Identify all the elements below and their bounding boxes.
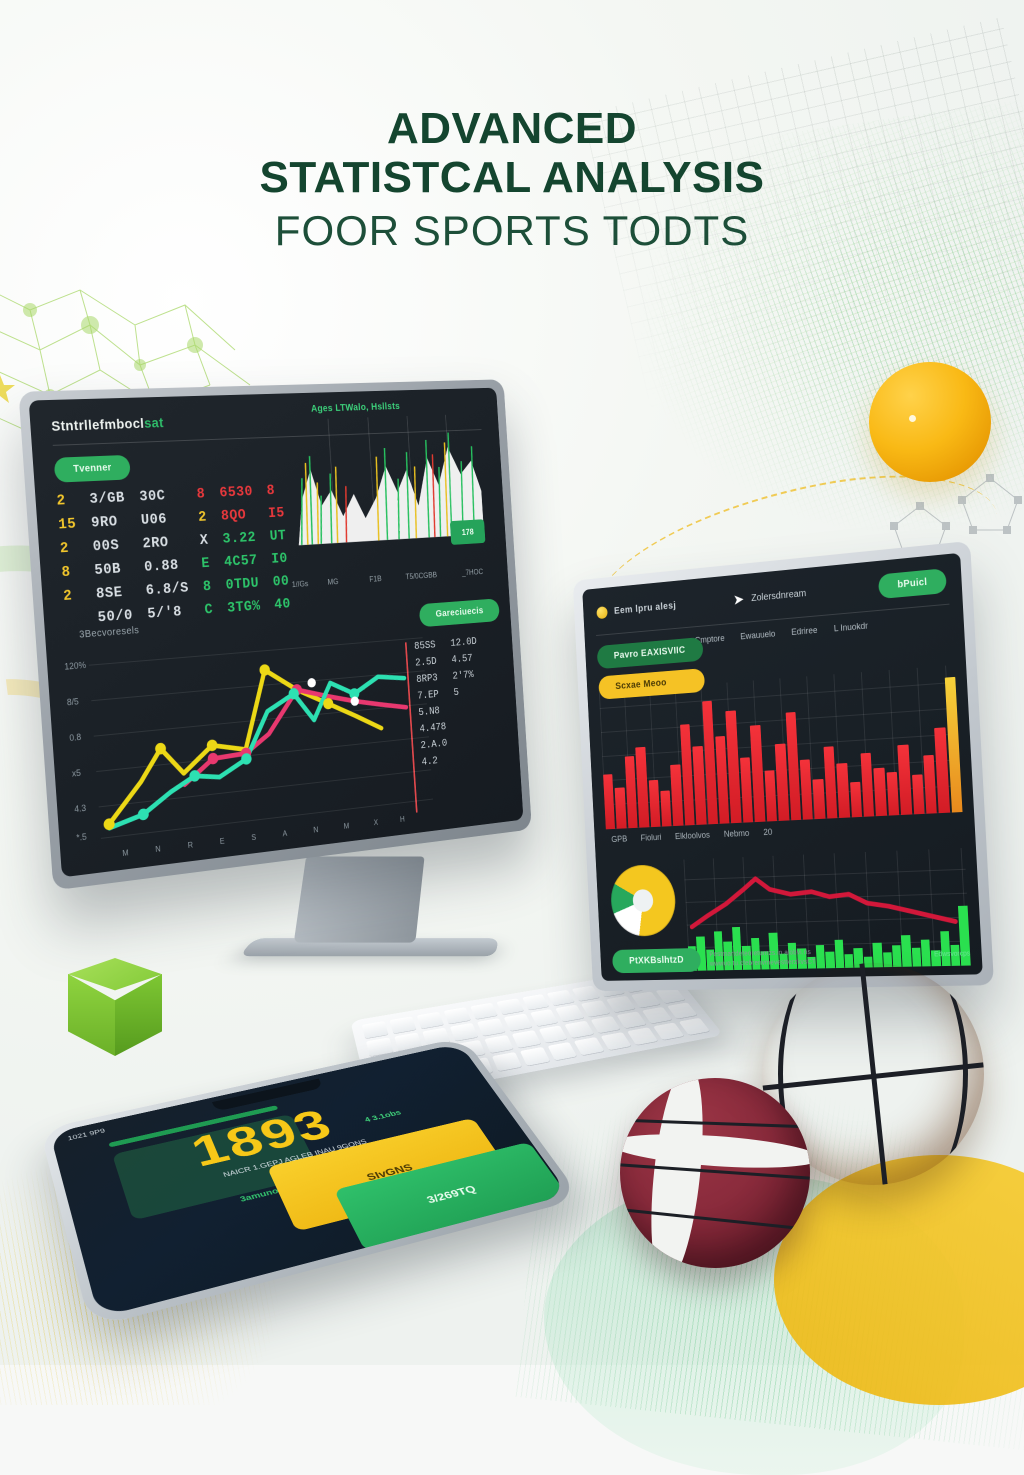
area-chart[interactable]: Ages LTWalo, Hsllsts <box>277 401 499 588</box>
yellow-sphere-right <box>869 362 991 482</box>
key[interactable] <box>362 1021 389 1039</box>
dashboard-title-accent: sat <box>144 414 165 430</box>
tablet-footer-badge: Edwsvorcps <box>934 951 970 959</box>
side-panel-button-wrap: Gareciuecis <box>419 598 500 627</box>
desktop-monitor: Stntrllefmboclsat Tvenner 2 15 2 8 2 3/G… <box>18 379 531 890</box>
key[interactable] <box>606 996 635 1012</box>
table-cell: 5/'8 <box>147 603 191 623</box>
side-column-b: 12.0D 4.57 2'7% 5 <box>450 636 487 807</box>
line-chart-plot <box>88 621 435 844</box>
bar <box>912 774 925 814</box>
side-value: 5 <box>453 685 480 698</box>
bar <box>635 747 649 828</box>
table-cell: 2 <box>56 492 75 510</box>
line-x-tick: X <box>373 818 378 827</box>
polygon-node-diagram-large <box>955 472 1024 538</box>
key[interactable] <box>519 1047 549 1066</box>
key[interactable] <box>547 1042 577 1061</box>
line-x-tick: R <box>188 841 194 850</box>
key[interactable] <box>642 1007 672 1024</box>
table-cell: 40 <box>274 596 291 613</box>
key[interactable] <box>538 1025 568 1043</box>
table-cell: 0.88 <box>144 557 188 576</box>
bar <box>764 770 777 822</box>
headline-line-2: STATISTCAL ANALYSIS <box>0 153 1024 202</box>
bar <box>660 790 672 827</box>
area-x-tick: 1//Gs <box>292 579 309 589</box>
tab-nav-item[interactable]: L Inuokdr <box>834 621 869 634</box>
key[interactable] <box>581 1000 610 1017</box>
table-cell: 50/0 <box>97 607 133 626</box>
headline-line-3: FOOR SPORTS TODTS <box>0 203 1024 260</box>
line-x-tick: S <box>251 833 256 842</box>
key[interactable] <box>556 1005 585 1022</box>
key[interactable] <box>653 1022 684 1040</box>
line-x-tick: A <box>282 829 287 838</box>
key[interactable] <box>667 1002 697 1019</box>
table-cell: 0TDU <box>225 575 259 594</box>
stats-column-symbols: 8 2 X E 8 C <box>196 486 213 619</box>
area-x-tick: MG <box>327 577 338 586</box>
line-x-tick: N <box>313 825 318 834</box>
area-x-tick: F1B <box>369 574 382 583</box>
line-y-tick: 0.8 <box>69 732 81 743</box>
table-cell: X <box>199 532 209 549</box>
tablet-footer-text: Pestmartdeteoretunrzs.in alobvi.ris wwwu… <box>709 949 816 968</box>
monitor-stand <box>294 857 425 943</box>
tab-nav-item[interactable]: Edriree <box>791 625 818 637</box>
footer-line: Pestmartdeteoretunrzs.in alobvi.ris <box>709 949 816 958</box>
table-cell: 30C <box>139 487 183 506</box>
table-cell: 00S <box>92 537 128 556</box>
key[interactable] <box>496 998 524 1014</box>
key[interactable] <box>679 1018 710 1035</box>
line-y-tick: 120% <box>64 660 86 672</box>
donut-chart[interactable] <box>609 864 677 937</box>
table-cell: U06 <box>140 510 184 529</box>
monitor-screen[interactable]: Stntrllefmboclsat Tvenner 2 15 2 8 2 3/G… <box>29 388 524 878</box>
line-y-tick: x5 <box>72 768 82 779</box>
table-cell: 50B <box>94 560 130 579</box>
table-cell: 9RO <box>91 513 127 532</box>
key[interactable] <box>484 1035 513 1053</box>
phone-status-label: 1021 9P9 <box>67 1127 106 1141</box>
side-value: 2'7% <box>452 669 479 682</box>
table-cell: E <box>201 555 211 572</box>
bar <box>823 746 837 818</box>
key[interactable] <box>389 1016 416 1033</box>
dashboard-primary-button[interactable]: Tvenner <box>54 455 131 483</box>
brand-dot-icon <box>596 606 607 619</box>
table-cell: 6.8/S <box>145 580 189 599</box>
area-x-tick: _7HOC <box>462 568 484 578</box>
bar <box>850 782 862 817</box>
bar-x-label: GPB <box>611 834 627 844</box>
line-x-tick: N <box>155 845 161 854</box>
line-y-tick: 4.3 <box>74 803 86 814</box>
line-x-tick: M <box>122 848 129 858</box>
up-arrow-icon: ➤ <box>733 592 745 607</box>
headline-line-1: ADVANCED <box>0 104 1024 153</box>
phone-delta-value: 4 3.1obs <box>363 1109 402 1124</box>
table-cell: 4C57 <box>224 552 258 570</box>
key[interactable] <box>522 994 550 1010</box>
footer-line: wwwuo.tu.cfebrenvmevestterzkvsCT <box>710 959 817 968</box>
stats-column-white-2: 30C U06 2RO 0.88 6.8/S 5/'8 <box>139 487 191 623</box>
area-chart-title: Ages LTWalo, Hsllsts <box>311 401 401 414</box>
bar <box>670 764 683 826</box>
key[interactable] <box>477 1018 505 1036</box>
tablet-device: Eem lpru alesj ➤ Zolersdnream bPuicl Cmp… <box>573 541 994 991</box>
bar <box>923 755 937 814</box>
tablet-cta-button[interactable]: bPuicl <box>878 568 947 599</box>
line-y-tick: 8/5 <box>67 696 79 707</box>
stats-column-white-1: 3/GB 9RO 00S 50B 8SE 50/0 <box>89 489 133 626</box>
table-cell: 3.22 <box>222 529 256 547</box>
line-chart[interactable]: 3Becvoresels 120% 8/5 0.8 x5 4.3 *.5 <box>59 620 439 862</box>
key[interactable] <box>511 1030 540 1048</box>
key[interactable] <box>503 1014 531 1031</box>
volleyball <box>620 1078 810 1268</box>
key[interactable] <box>492 1052 522 1071</box>
poster-canvas: ADVANCED STATISTCAL ANALYSIS FOOR SPORTS… <box>0 0 1024 1365</box>
bar <box>897 745 911 815</box>
bar <box>648 780 660 828</box>
table-cell: 2 <box>198 509 208 526</box>
green-cube-object <box>60 958 172 1070</box>
line-y-tick: *.5 <box>76 832 87 843</box>
bar <box>813 779 825 820</box>
headline-block: ADVANCED STATISTCAL ANALYSIS FOOR SPORTS… <box>0 104 1024 259</box>
bar-x-label: 20 <box>763 827 772 837</box>
bar-x-label: Fioluri <box>640 832 661 842</box>
stats-column-yellow: 2 15 2 8 2 <box>56 492 83 629</box>
bar <box>800 759 813 820</box>
stats-column-red-green: 6530 8QO 3.22 4C57 0TDU 3TG% <box>219 484 261 617</box>
key[interactable] <box>417 1012 444 1029</box>
bar <box>603 774 615 829</box>
table-cell: 15 <box>58 516 77 534</box>
key[interactable] <box>574 1037 605 1056</box>
side-value: 12.0D <box>450 636 477 649</box>
bar-x-label: Nebmo <box>724 828 750 839</box>
line-x-tick: M <box>343 822 349 831</box>
key[interactable] <box>601 1032 632 1050</box>
table-cell: 2 <box>63 587 82 605</box>
tablet-screen[interactable]: Eem lpru alesj ➤ Zolersdnream bPuicl Cmp… <box>582 553 983 981</box>
table-cell: 8SE <box>96 584 132 603</box>
line-chart-label: 3Becvoresels <box>79 625 140 640</box>
table-cell: 3/GB <box>89 489 125 507</box>
table-cell: 3TG% <box>227 598 261 617</box>
table-cell: 8 <box>61 563 80 581</box>
side-panel-button[interactable]: Gareciuecis <box>419 598 500 627</box>
tablet-arrow-label: Zolersdnream <box>751 588 807 604</box>
dashboard-title-text: Stntrllefmbocl <box>51 415 145 434</box>
table-cell: 2RO <box>142 533 186 552</box>
line-x-tick: H <box>400 815 405 824</box>
table-cell: 8 <box>196 486 206 503</box>
table-cell: 6530 <box>219 484 253 502</box>
table-cell: 8QO <box>220 506 254 524</box>
bar <box>836 763 849 818</box>
bar <box>615 787 627 829</box>
line-x-tick: E <box>220 837 225 846</box>
bar <box>860 753 874 817</box>
key[interactable] <box>627 1027 658 1045</box>
tablet-brand-label: Eem lpru alesj <box>614 601 676 617</box>
key[interactable] <box>631 992 660 1008</box>
bar <box>886 771 899 815</box>
bar-x-label: Elkloolvos <box>675 830 710 841</box>
key[interactable] <box>565 1020 595 1038</box>
key[interactable] <box>591 1016 621 1033</box>
table-cell: 8 <box>203 578 213 595</box>
table-cell: 2 <box>59 539 78 557</box>
key[interactable] <box>530 1009 559 1026</box>
key[interactable] <box>547 990 575 1006</box>
key[interactable] <box>443 1007 470 1024</box>
table-cell: C <box>204 601 214 618</box>
tab-nav-item[interactable]: Ewauuelo <box>740 629 775 642</box>
side-value: 4.57 <box>451 653 478 666</box>
tablet-filter-pills: Pavro EAXISVIIC Scxae Meoo <box>597 637 705 700</box>
tablet-footer-button[interactable]: PtXKBslhtzD <box>612 948 702 973</box>
bar <box>874 768 887 816</box>
area-chart-badge: 178 <box>450 519 486 545</box>
key[interactable] <box>617 1011 647 1028</box>
key[interactable] <box>470 1003 498 1020</box>
